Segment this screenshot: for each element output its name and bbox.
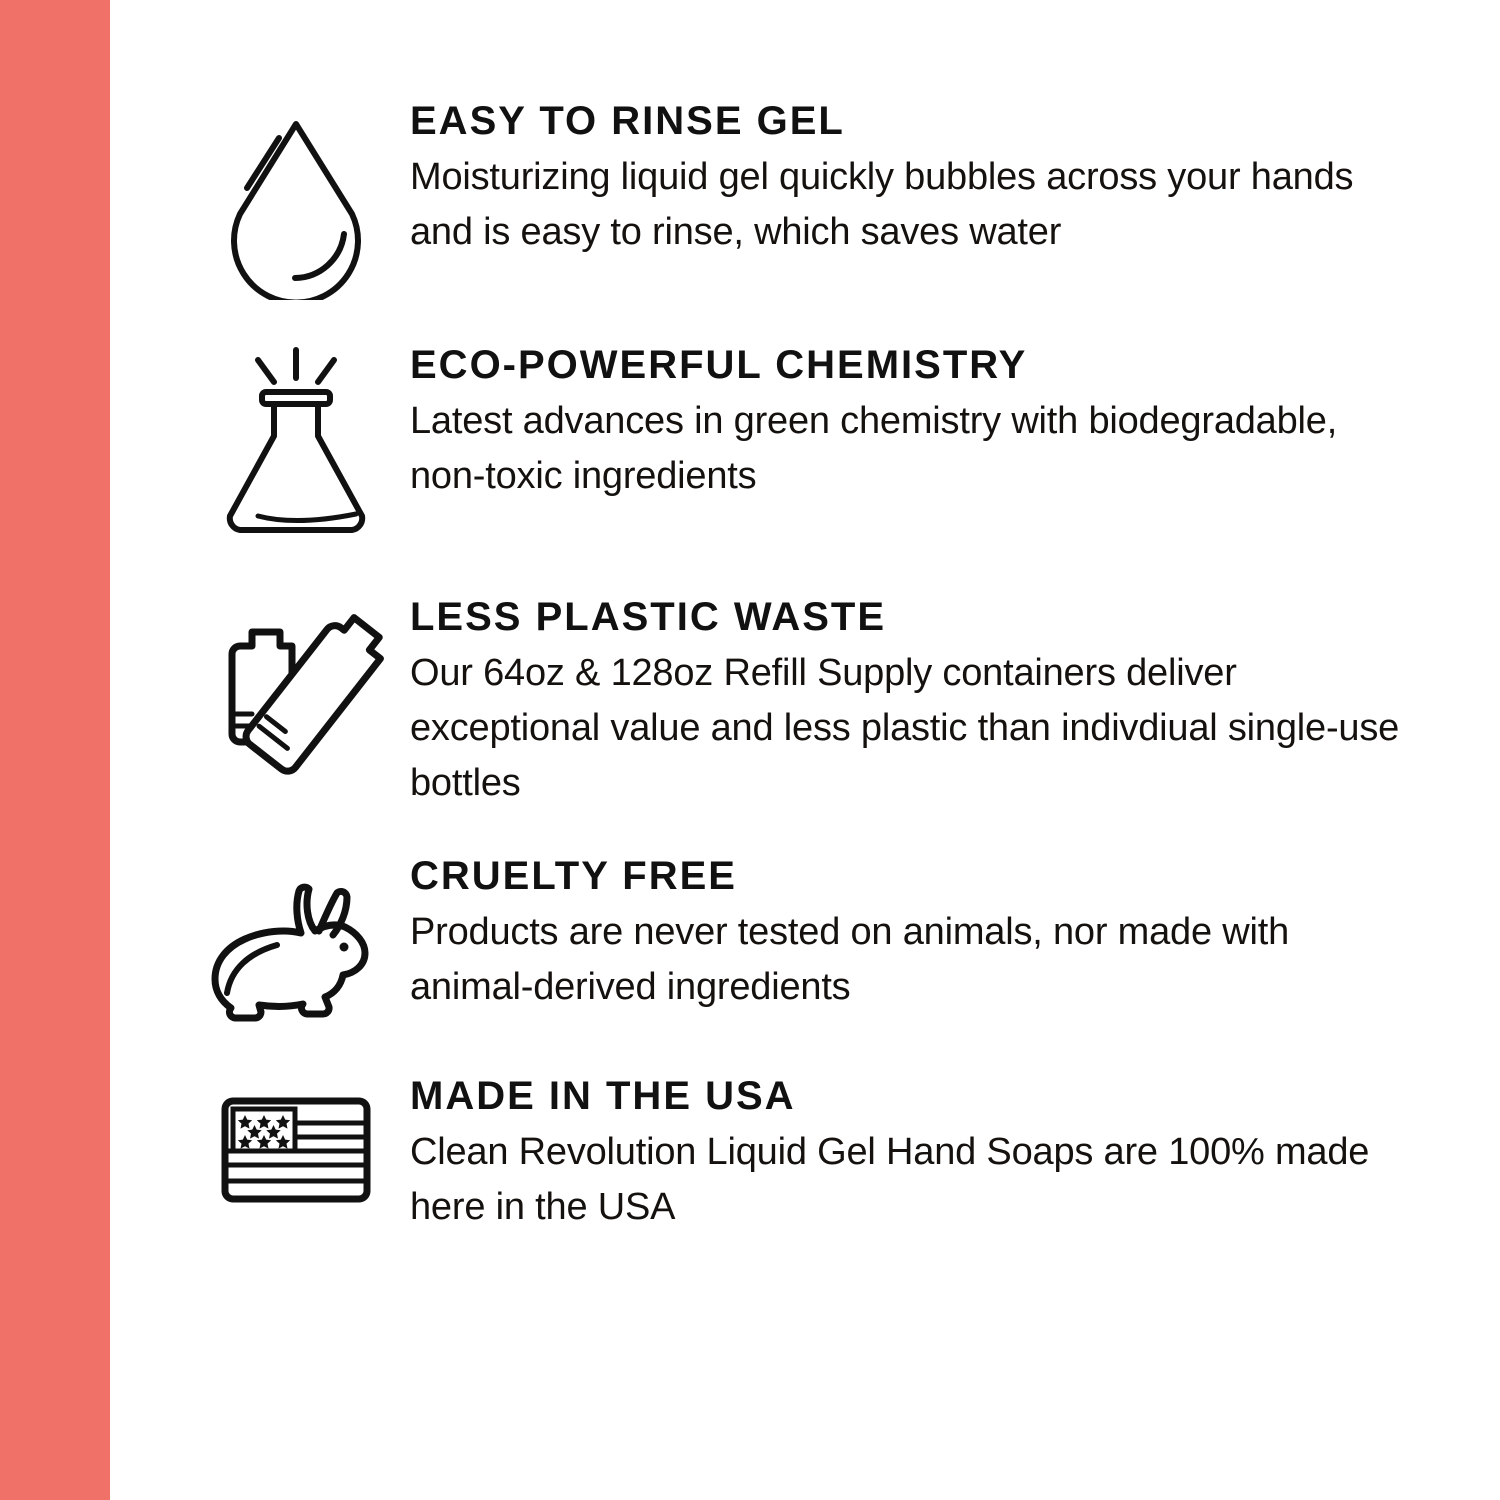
left-accent-bar (0, 0, 110, 1500)
usa-flag-icon (221, 1097, 371, 1203)
feature-title: EASY TO RINSE GEL (410, 100, 1500, 142)
feature-title: CRUELTY FREE (410, 855, 1500, 897)
feature-item-eco-powerful-chemistry: ECO-POWERFUL CHEMISTRY Latest advances i… (110, 340, 1500, 544)
feature-description: Our 64oz & 128oz Refill Supply container… (410, 646, 1420, 810)
feature-list: EASY TO RINSE GEL Moisturizing liquid ge… (110, 0, 1500, 1500)
product-benefits-infographic: EASY TO RINSE GEL Moisturizing liquid ge… (0, 0, 1500, 1500)
refill-bottles-icon (206, 602, 386, 782)
feature-item-easy-to-rinse-gel: EASY TO RINSE GEL Moisturizing liquid ge… (110, 96, 1500, 300)
feature-item-made-in-the-usa: MADE IN THE USA Clean Revolution Liquid … (110, 1071, 1500, 1235)
water-droplet-icon (211, 110, 381, 300)
rabbit-icon (201, 873, 391, 1023)
feature-text-cell: ECO-POWERFUL CHEMISTRY Latest advances i… (396, 340, 1500, 504)
feature-description: Clean Revolution Liquid Gel Hand Soaps a… (410, 1125, 1420, 1234)
feature-icon-cell (196, 96, 396, 300)
feature-item-cruelty-free: CRUELTY FREE Products are never tested o… (110, 851, 1500, 1023)
erlenmeyer-flask-icon (206, 344, 386, 544)
feature-text-cell: CRUELTY FREE Products are never tested o… (396, 851, 1500, 1015)
feature-title: ECO-POWERFUL CHEMISTRY (410, 344, 1500, 386)
feature-text-cell: EASY TO RINSE GEL Moisturizing liquid ge… (396, 96, 1500, 260)
feature-title: LESS PLASTIC WASTE (410, 596, 1500, 638)
feature-title: MADE IN THE USA (410, 1075, 1500, 1117)
feature-icon-cell (196, 592, 396, 782)
feature-description: Products are never tested on animals, no… (410, 905, 1420, 1014)
feature-item-less-plastic-waste: LESS PLASTIC WASTE Our 64oz & 128oz Refi… (110, 592, 1500, 811)
feature-text-cell: LESS PLASTIC WASTE Our 64oz & 128oz Refi… (396, 592, 1500, 811)
feature-description: Moisturizing liquid gel quickly bubbles … (410, 150, 1420, 259)
feature-icon-cell (196, 340, 396, 544)
feature-icon-cell (196, 1071, 396, 1203)
feature-text-cell: MADE IN THE USA Clean Revolution Liquid … (396, 1071, 1500, 1235)
feature-description: Latest advances in green chemistry with … (410, 394, 1420, 503)
feature-icon-cell (196, 851, 396, 1023)
